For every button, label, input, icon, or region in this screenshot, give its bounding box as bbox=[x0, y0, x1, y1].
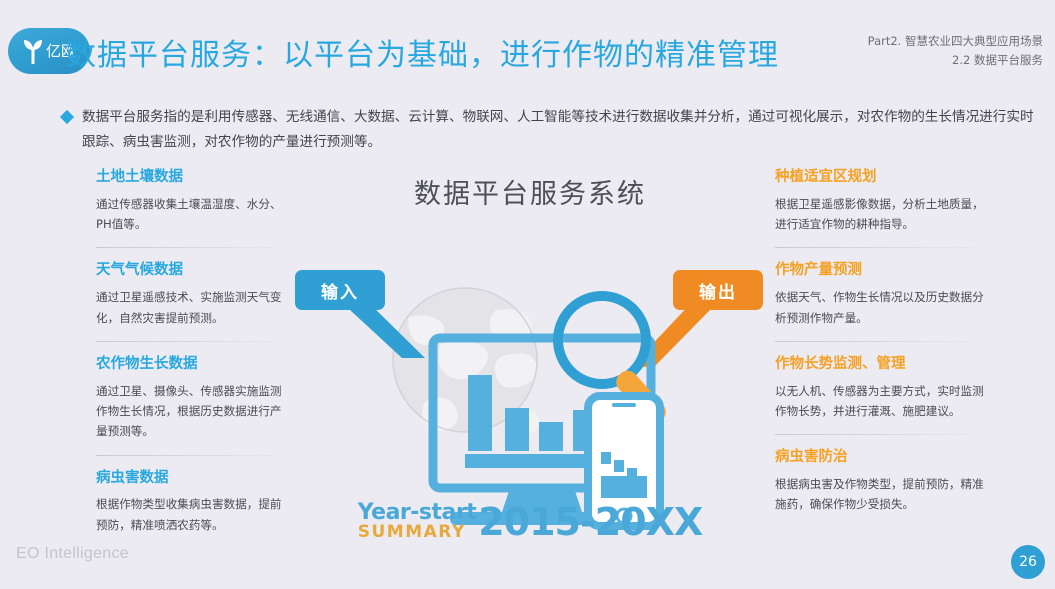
block-body: 通过卫星遥感技术、实施监测天气变化，自然灾害提前预测。 bbox=[96, 287, 292, 328]
center-illustration: 数据平台服务系统 bbox=[290, 160, 770, 560]
input-callout[interactable]: 输入 bbox=[295, 270, 385, 310]
year-start-line1: Year-start bbox=[358, 503, 476, 524]
block-title: 作物长势监测、管理 bbox=[775, 355, 990, 374]
breadcrumb-line-1: Part2. 智慧农业四大典型应用场景 bbox=[868, 32, 1043, 51]
list-item[interactable]: 作物长势监测、管理 以无人机、传感器为主要方式，实时监测作物长势，并进行灌溉、施… bbox=[775, 341, 990, 421]
block-title: 天气气候数据 bbox=[96, 261, 292, 280]
year-start-wordmark: Year-start SUMMARY 2015-20XX bbox=[290, 500, 770, 544]
list-item[interactable]: 天气气候数据 通过卫星遥感技术、实施监测天气变化，自然灾害提前预测。 bbox=[96, 247, 292, 327]
watermark: EO Intelligence bbox=[16, 545, 129, 563]
block-title: 农作物生长数据 bbox=[96, 355, 292, 374]
left-column: 土地土壤数据 通过传感器收集土壤温湿度、水分、PH值等。 天气气候数据 通过卫星… bbox=[96, 168, 292, 548]
intro-paragraph: 数据平台服务指的是利用传感器、无线通信、大数据、云计算、物联网、人工智能等技术进… bbox=[62, 105, 1037, 155]
block-body: 根据病虫害及作物类型，提前预防，精准施药，确保作物少受损失。 bbox=[775, 474, 990, 515]
intro-text: 数据平台服务指的是利用传感器、无线通信、大数据、云计算、物联网、人工智能等技术进… bbox=[82, 105, 1037, 155]
block-body: 依据天气、作物生长情况以及历史数据分析预测作物产量。 bbox=[775, 287, 990, 328]
block-title: 病虫害防治 bbox=[775, 448, 990, 467]
block-body: 根据作物类型收集病虫害数据，提前预防，精准喷洒农药等。 bbox=[96, 494, 292, 535]
block-body: 根据卫星遥感影像数据，分析土地质量，进行适宜作物的耕种指导。 bbox=[775, 194, 990, 235]
right-column: 种植适宜区规划 根据卫星遥感影像数据，分析土地质量，进行适宜作物的耕种指导。 作… bbox=[775, 168, 990, 528]
block-title: 作物产量预测 bbox=[775, 261, 990, 280]
input-callout-label: 输入 bbox=[321, 278, 359, 303]
block-title: 病虫害数据 bbox=[96, 469, 292, 488]
page-number-badge: 26 bbox=[1011, 545, 1045, 579]
block-body: 通过卫星、摄像头、传感器实施监测作物生长情况，根据历史数据进行产量预测等。 bbox=[96, 381, 292, 442]
list-item[interactable]: 病虫害数据 根据作物类型收集病虫害数据，提前预防，精准喷洒农药等。 bbox=[96, 455, 292, 535]
slide-header: 亿欧 数据平台服务：以平台为基础，进行作物的精准管理 Part2. 智慧农业四大… bbox=[0, 22, 1055, 80]
header-breadcrumb: Part2. 智慧农业四大典型应用场景 2.2 数据平台服务 bbox=[868, 32, 1043, 70]
year-start-range: 2015-20XX bbox=[478, 500, 702, 544]
block-title: 土地土壤数据 bbox=[96, 168, 292, 187]
block-title: 种植适宜区规划 bbox=[775, 168, 990, 187]
list-item[interactable]: 土地土壤数据 通过传感器收集土壤温湿度、水分、PH值等。 bbox=[96, 168, 292, 234]
list-item[interactable]: 农作物生长数据 通过卫星、摄像头、传感器实施监测作物生长情况，根据历史数据进行产… bbox=[96, 341, 292, 442]
output-callout-label: 输出 bbox=[699, 278, 737, 303]
list-item[interactable]: 作物产量预测 依据天气、作物生长情况以及历史数据分析预测作物产量。 bbox=[775, 247, 990, 327]
block-body: 通过传感器收集土壤温湿度、水分、PH值等。 bbox=[96, 194, 292, 235]
list-item[interactable]: 病虫害防治 根据病虫害及作物类型，提前预防，精准施药，确保作物少受损失。 bbox=[775, 434, 990, 514]
breadcrumb-line-2: 2.2 数据平台服务 bbox=[868, 51, 1043, 70]
block-body: 以无人机、传感器为主要方式，实时监测作物长势，并进行灌溉、施肥建议。 bbox=[775, 381, 990, 422]
list-item[interactable]: 种植适宜区规划 根据卫星遥感影像数据，分析土地质量，进行适宜作物的耕种指导。 bbox=[775, 168, 990, 234]
slide-canvas: 亿欧 数据平台服务：以平台为基础，进行作物的精准管理 Part2. 智慧农业四大… bbox=[0, 0, 1055, 589]
diamond-bullet-icon bbox=[60, 110, 74, 124]
year-start-line2: SUMMARY bbox=[358, 524, 476, 541]
y-sprout-logo-icon bbox=[22, 38, 44, 64]
page-title: 数据平台服务：以平台为基础，进行作物的精准管理 bbox=[66, 30, 779, 74]
output-callout[interactable]: 输出 bbox=[673, 270, 763, 310]
